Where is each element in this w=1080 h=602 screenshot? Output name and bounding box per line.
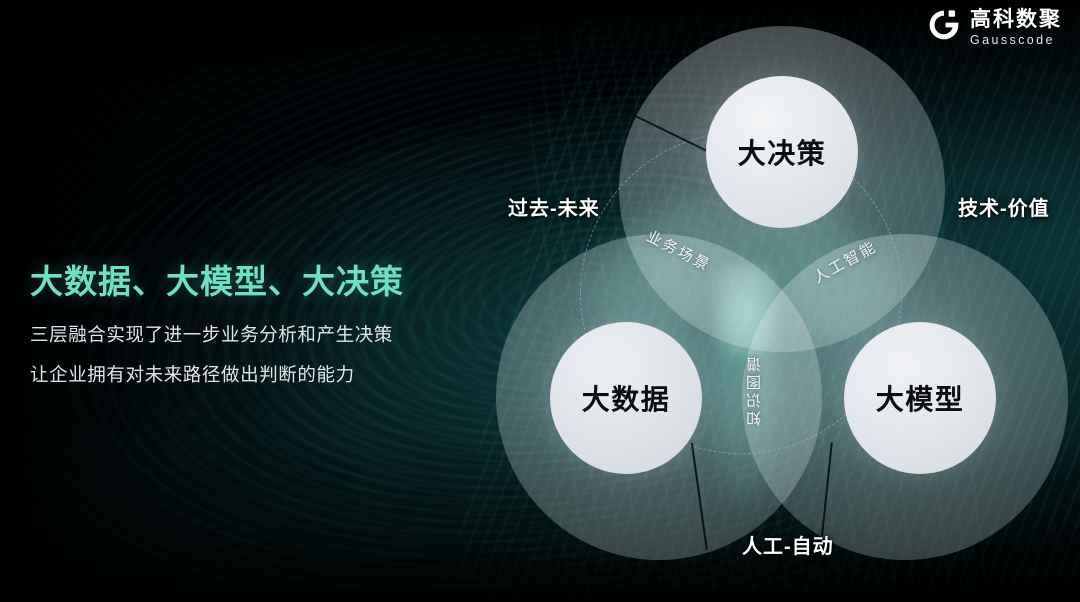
axis-label-past-future: 过去-未来 (508, 192, 600, 221)
venn-node-big-decision[interactable]: 大决策 (706, 76, 858, 228)
venn-node-label-top: 大决策 (738, 132, 827, 172)
brand-name-cn: 高科数聚 (970, 9, 1062, 30)
subtitle-line-1: 三层融合实现了进一步业务分析和产生决策 (30, 321, 470, 347)
axis-label-manual-auto: 人工-自动 (742, 530, 834, 559)
venn-node-label-left: 大数据 (582, 378, 671, 418)
left-text-panel: 大数据、大模型、大决策 三层融合实现了进一步业务分析和产生决策 让企业拥有对未来… (30, 255, 470, 401)
brand-logo-text: 高科数聚 Gausscode (970, 9, 1062, 47)
brand-logo: 高科数聚 Gausscode (927, 8, 1062, 47)
brand-name-en: Gausscode (970, 34, 1062, 47)
axis-label-tech-value: 技术-价值 (958, 192, 1050, 221)
venn-node-label-right: 大模型 (876, 378, 965, 418)
slide-root: 高科数聚 Gausscode 大数据、大模型、大决策 三层融合实现了进一步业务分… (0, 0, 1080, 602)
venn-node-big-model[interactable]: 大模型 (844, 322, 996, 474)
venn-node-big-data[interactable]: 大数据 (550, 322, 702, 474)
page-title: 大数据、大模型、大决策 (30, 255, 470, 303)
gausscode-g-mark-icon (927, 8, 961, 47)
venn-overlap-label-knowledge-graph: 知识图谱 (744, 354, 765, 426)
subtitle-line-2: 让企业拥有对未来路径做出判断的能力 (30, 361, 470, 387)
venn-diagram: 大决策 大数据 大模型 业务场景 人工智能 知识图谱 (492, 14, 1072, 584)
